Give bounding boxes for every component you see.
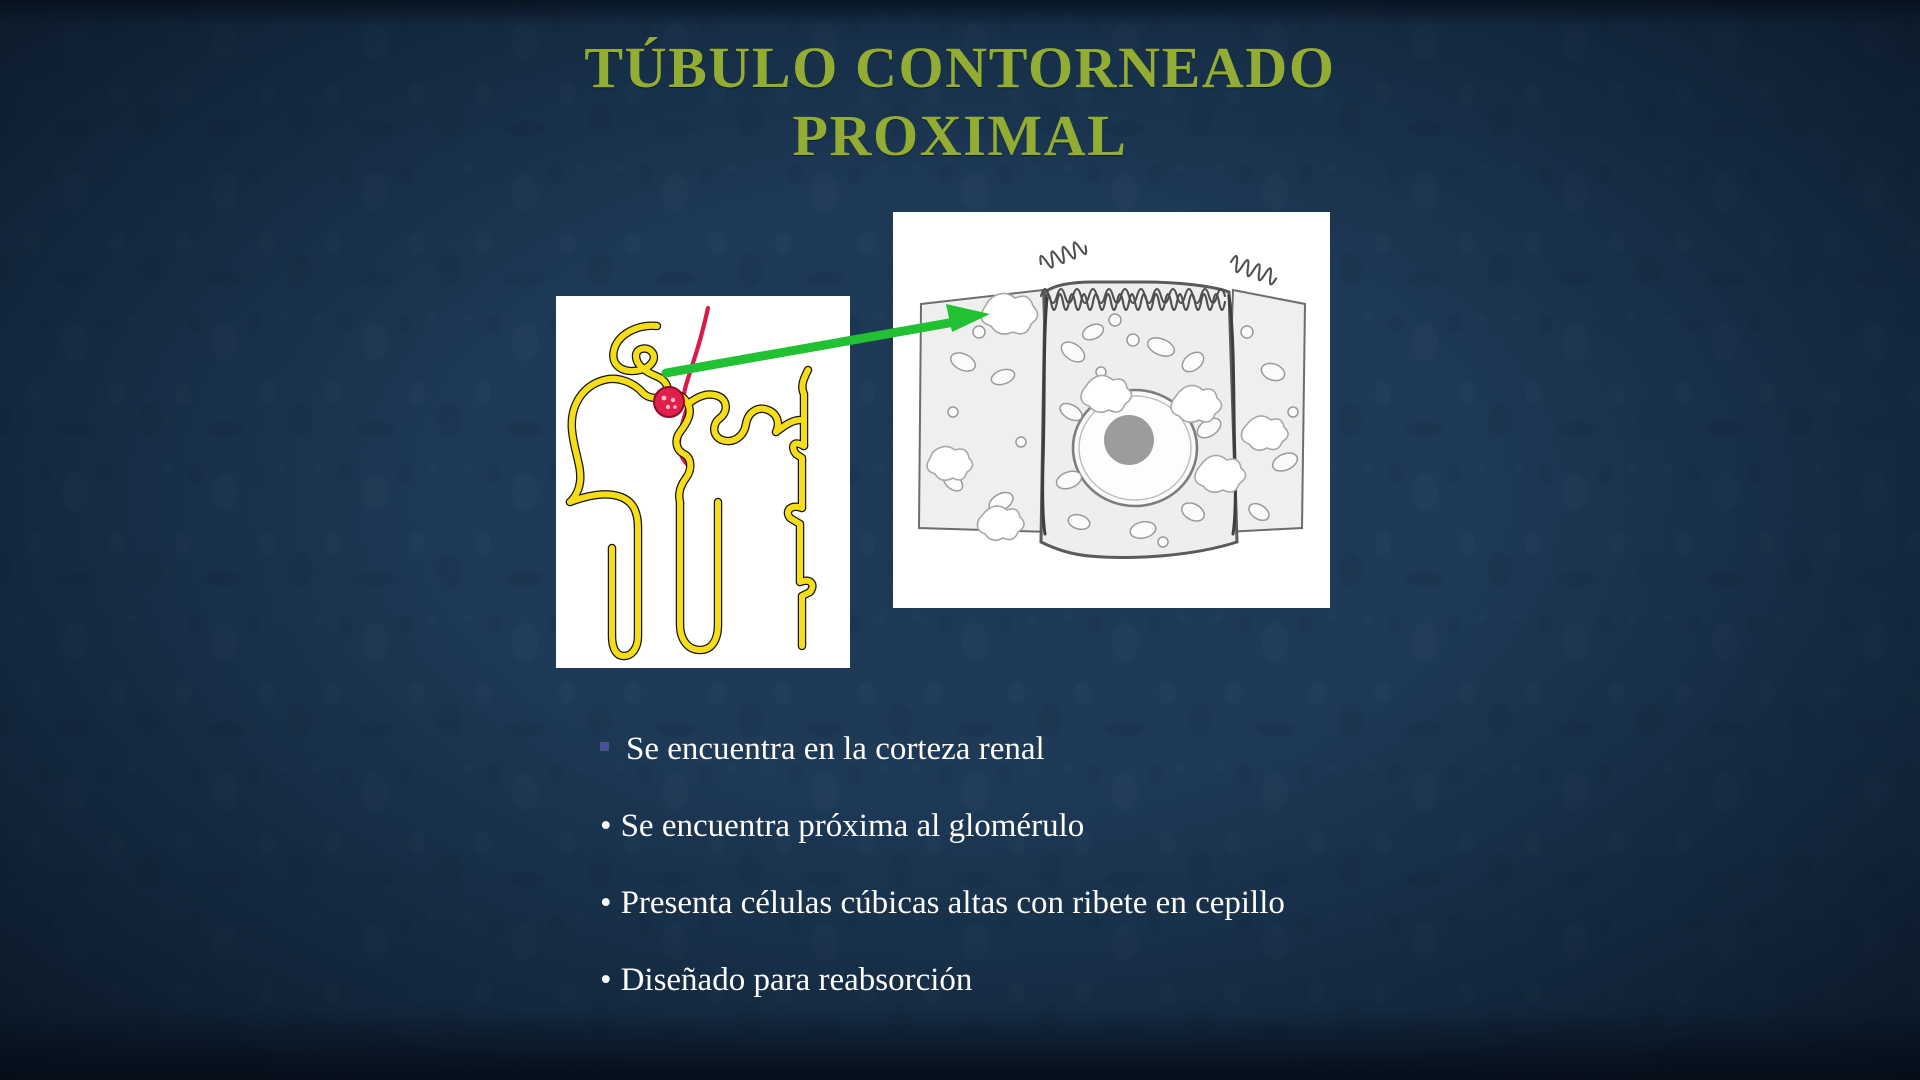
- slide-title-line-2: PROXIMAL: [380, 102, 1540, 170]
- bullet-label: Se encuentra próxima al glomérulo: [621, 805, 1400, 848]
- bullet-label: Diseñado para reabsorción: [621, 959, 1400, 1002]
- nucleolus: [1104, 415, 1154, 465]
- slide-canvas: TÚBULO CONTORNEADO PROXIMAL: [0, 0, 1920, 1080]
- dot-bullet-icon: •: [600, 887, 612, 920]
- nephron-diagram-image: [556, 296, 850, 668]
- dot-bullet-icon: •: [600, 964, 612, 997]
- square-bullet-icon: [600, 742, 609, 751]
- slide-title-line-1: TÚBULO CONTORNEADO: [380, 34, 1540, 102]
- bullet-label: Se encuentra en la corteza renal: [626, 728, 1400, 771]
- background-bottom-shade: [0, 1010, 1920, 1080]
- list-item[interactable]: • Presenta células cúbicas altas con rib…: [600, 882, 1400, 925]
- glomerulus: [654, 387, 684, 417]
- dot-bullet-icon: •: [600, 810, 612, 843]
- bullet-label: Presenta células cúbicas altas con ribet…: [621, 882, 1400, 925]
- proximal-tubule-cell-image: [893, 212, 1330, 608]
- list-item[interactable]: Se encuentra en la corteza renal: [600, 728, 1400, 771]
- list-item[interactable]: • Se encuentra próxima al glomérulo: [600, 805, 1400, 848]
- background-top-shade: [0, 0, 1920, 26]
- slide-title: TÚBULO CONTORNEADO PROXIMAL: [380, 34, 1540, 171]
- list-item[interactable]: • Diseñado para reabsorción: [600, 959, 1400, 1002]
- bullet-list: Se encuentra en la corteza renal • Se en…: [600, 728, 1400, 1002]
